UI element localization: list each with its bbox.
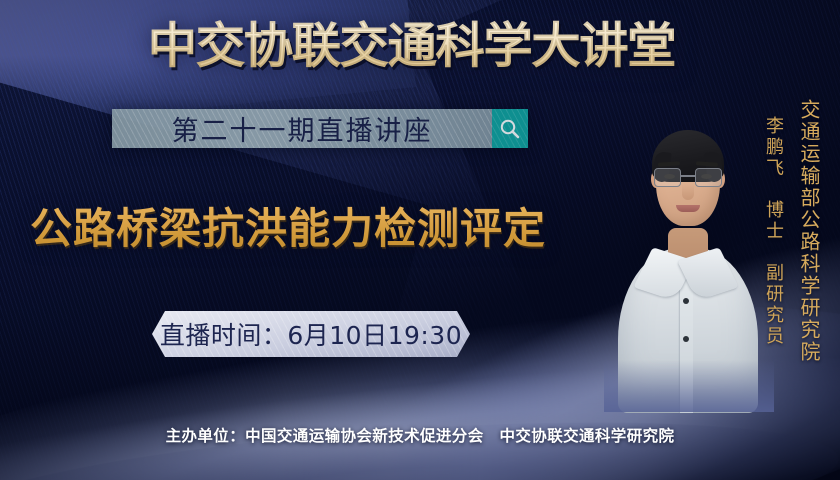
search-icon: [499, 118, 521, 140]
page-title: 中交协联交通科学大讲堂: [148, 18, 719, 74]
live-time-badge: 直播时间：6月10日19:30: [152, 311, 470, 357]
portrait-nose: [682, 184, 694, 200]
webinar-poster: 中交协联交通科学大讲堂 第二十一期直播讲座 公路桥梁抗洪能力检测评定 直播时间：…: [0, 0, 840, 480]
portrait-bottom-fade: [604, 360, 774, 412]
lecture-title: 公路桥梁抗洪能力检测评定: [30, 203, 546, 255]
episode-field[interactable]: 第二十一期直播讲座: [112, 109, 492, 148]
organizer-footer: 主办单位：中国交通运输协会新技术促进分会 中交协联交通科学研究院: [0, 424, 840, 446]
speaker-organization: 交通运输部公路科学研究院: [795, 99, 824, 363]
search-button[interactable]: [492, 109, 528, 148]
episode-search-bar[interactable]: 第二十一期直播讲座: [112, 109, 528, 148]
speaker-name-and-rank: 李鹏飞 博士 副研究员: [760, 116, 786, 347]
live-time-text: 直播时间：6月10日19:30: [160, 316, 462, 352]
episode-label: 第二十一期直播讲座: [172, 109, 433, 148]
glasses-lens-left: [654, 168, 681, 187]
portrait-mouth: [676, 205, 700, 212]
glasses-lens-right: [695, 168, 722, 187]
speaker-portrait: [612, 108, 762, 408]
shirt-button: [683, 298, 689, 304]
glasses-bridge: [681, 175, 695, 177]
shirt-button: [683, 336, 689, 342]
